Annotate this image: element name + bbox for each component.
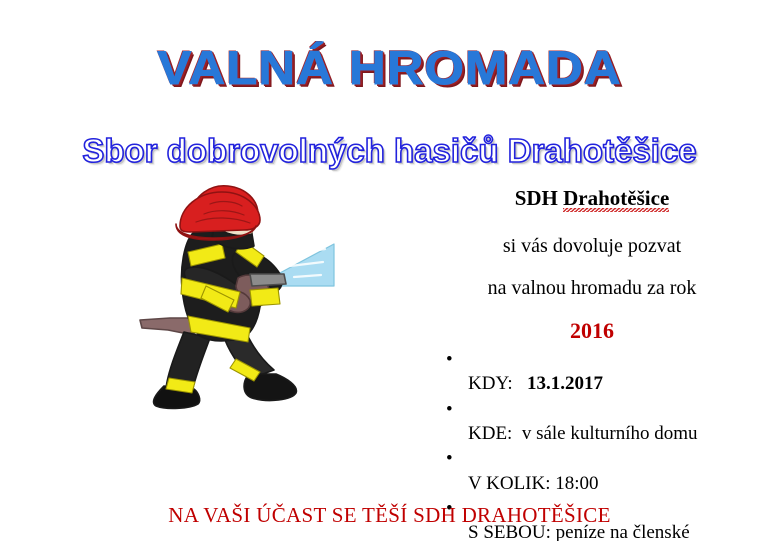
organization-place-spellchecked: Drahotěšice (563, 188, 669, 209)
organization-name: SDH Drahotěšice (418, 188, 766, 209)
bullet-icon: • (446, 447, 453, 471)
organization-prefix: SDH (515, 186, 563, 210)
firefighter-illustration (118, 182, 348, 410)
footer-closing-line: NA VAŠI ÚČAST SE TĚŠÍ SDH DRAHOTĚŠICE (0, 503, 779, 528)
invite-line-2: na valnou hromadu za rok (418, 278, 766, 298)
list-item: •KDY: 13.1.2017 (446, 348, 768, 397)
detail-label: V KOLIK: (468, 473, 551, 494)
list-item: •KDE: v sále kulturního domu (446, 398, 768, 447)
detail-label: KDY: (468, 373, 513, 394)
bullet-icon: • (446, 398, 453, 422)
poster-canvas: VALNÁ HROMADA Sbor dobrovolných hasičů D… (0, 0, 779, 541)
page-title: VALNÁ HROMADA (0, 44, 779, 91)
invitation-text-block: SDH Drahotěšice si vás dovoluje pozvat n… (418, 188, 766, 342)
detail-value: 13.1.2017 (527, 373, 603, 394)
detail-value: v sále kulturního domu (522, 423, 698, 444)
detail-value: 18:00 (555, 473, 598, 494)
detail-label: KDE: (468, 423, 512, 444)
page-subtitle: Sbor dobrovolných hasičů Drahotěšice (0, 133, 779, 169)
firefighter-icon (118, 182, 348, 410)
bullet-icon: • (446, 348, 453, 372)
water-spray-icon (278, 244, 334, 286)
list-item: •V KOLIK: 18:00 (446, 447, 768, 496)
invite-line-1: si vás dovoluje pozvat (418, 236, 766, 256)
invite-year: 2016 (418, 320, 766, 342)
